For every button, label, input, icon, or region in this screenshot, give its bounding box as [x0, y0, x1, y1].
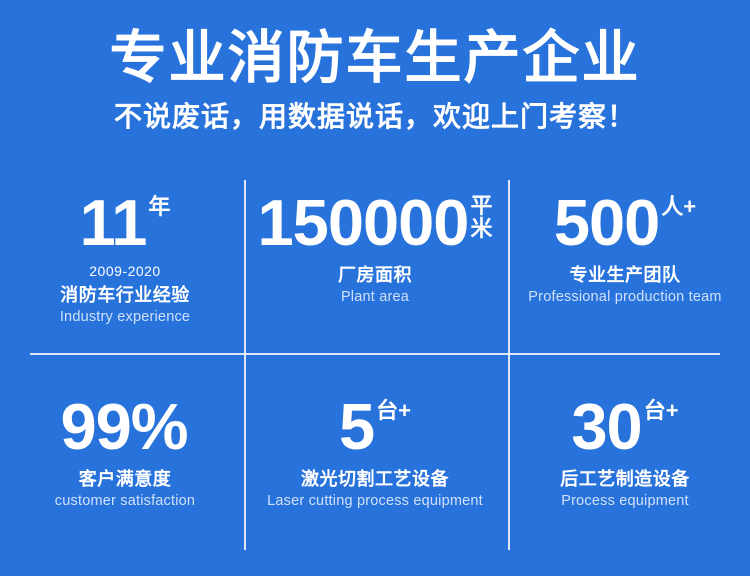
stat-number: 500 — [554, 188, 659, 258]
stat-number: 150000 — [258, 188, 469, 258]
stat-value-row: 500 人+ — [554, 188, 696, 260]
stat-range: 2009-2020 — [89, 262, 160, 280]
stat-label-en: customer satisfaction — [55, 491, 195, 511]
stats-grid: 11 年 2009-2020 消防车行业经验 Industry experien… — [0, 180, 750, 552]
divider-vertical-left — [244, 180, 246, 550]
stat-label-cn: 厂房面积 — [338, 263, 412, 287]
stat-number: 30 — [571, 392, 641, 462]
stat-value-row: 30 台+ — [571, 392, 678, 464]
promo-banner: 专业消防车生产企业 不说废话，用数据说话，欢迎上门考察！ 11 年 2009-2… — [0, 0, 750, 576]
page-subtitle: 不说废话，用数据说话，欢迎上门考察！ — [0, 90, 750, 133]
divider-horizontal — [30, 353, 720, 355]
stat-label-cn: 后工艺制造设备 — [560, 467, 690, 491]
stat-cell-customer-satisfaction: 99% 客户满意度 customer satisfaction — [0, 366, 250, 540]
stat-label-en: Plant area — [341, 287, 409, 307]
stat-unit-line2: 米 — [470, 217, 492, 240]
stat-unit: 人+ — [661, 196, 696, 218]
stat-unit: 年 — [148, 196, 170, 218]
stat-value-row: 150000 平 米 — [258, 188, 493, 260]
stat-label-cn: 客户满意度 — [79, 467, 172, 491]
stat-cell-laser-cutting: 5 台+ 激光切割工艺设备 Laser cutting process equi… — [250, 366, 500, 540]
stat-label-en: Industry experience — [60, 307, 190, 327]
stat-cell-plant-area: 150000 平 米 厂房面积 Plant area — [250, 180, 500, 354]
stat-label-cn: 激光切割工艺设备 — [301, 467, 449, 491]
stat-cell-industry-experience: 11 年 2009-2020 消防车行业经验 Industry experien… — [0, 180, 250, 354]
stat-number: 5 — [339, 392, 374, 462]
stat-value-row: 11 年 — [80, 188, 171, 260]
page-title: 专业消防车生产企业 — [0, 0, 750, 90]
stat-value-row: 99% — [60, 392, 189, 464]
stat-label-cn: 消防车行业经验 — [60, 283, 190, 307]
banner-header: 专业消防车生产企业 不说废话，用数据说话，欢迎上门考察！ — [0, 0, 750, 132]
stat-cell-process-equipment: 30 台+ 后工艺制造设备 Process equipment — [500, 366, 750, 540]
stat-number: 99% — [60, 392, 187, 462]
stat-unit: 台+ — [376, 400, 411, 422]
stat-number: 11 — [80, 188, 147, 258]
stat-value-row: 5 台+ — [339, 392, 411, 464]
stat-label-en: Professional production team — [528, 287, 721, 307]
stat-label-en: Process equipment — [561, 491, 689, 511]
stat-unit-line1: 平 — [470, 194, 492, 217]
stat-label-en: Laser cutting process equipment — [267, 491, 483, 511]
stat-unit: 台+ — [644, 400, 679, 422]
divider-vertical-right — [508, 180, 510, 550]
stat-unit: 平 米 — [470, 194, 492, 240]
stat-cell-production-team: 500 人+ 专业生产团队 Professional production te… — [500, 180, 750, 354]
stat-label-cn: 专业生产团队 — [570, 263, 681, 287]
